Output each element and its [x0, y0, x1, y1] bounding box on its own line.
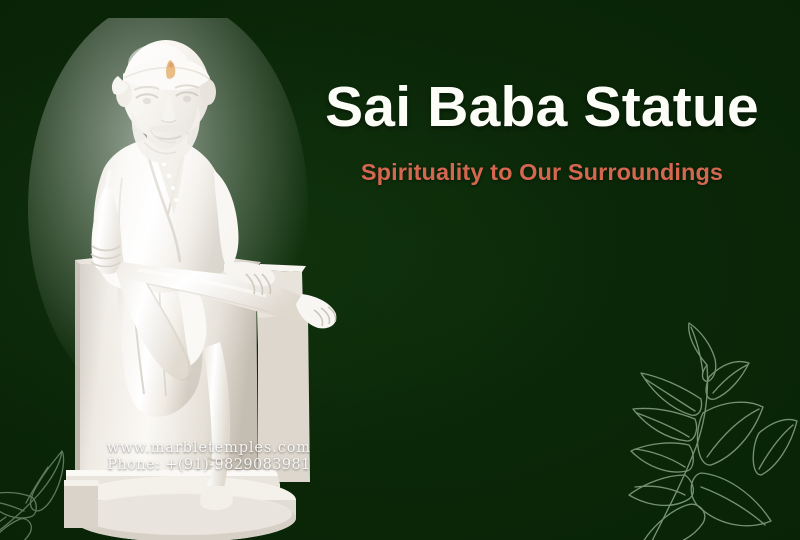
- promo-banner: www.marbletemples.com Phone: +(91)-98290…: [0, 0, 800, 540]
- page-title: Sai Baba Statue: [296, 78, 788, 136]
- page-subtitle: Spirituality to Our Surroundings: [296, 159, 788, 186]
- leaf-branch-icon: [591, 315, 800, 540]
- headings-block: Sai Baba Statue Spirituality to Our Surr…: [296, 78, 788, 186]
